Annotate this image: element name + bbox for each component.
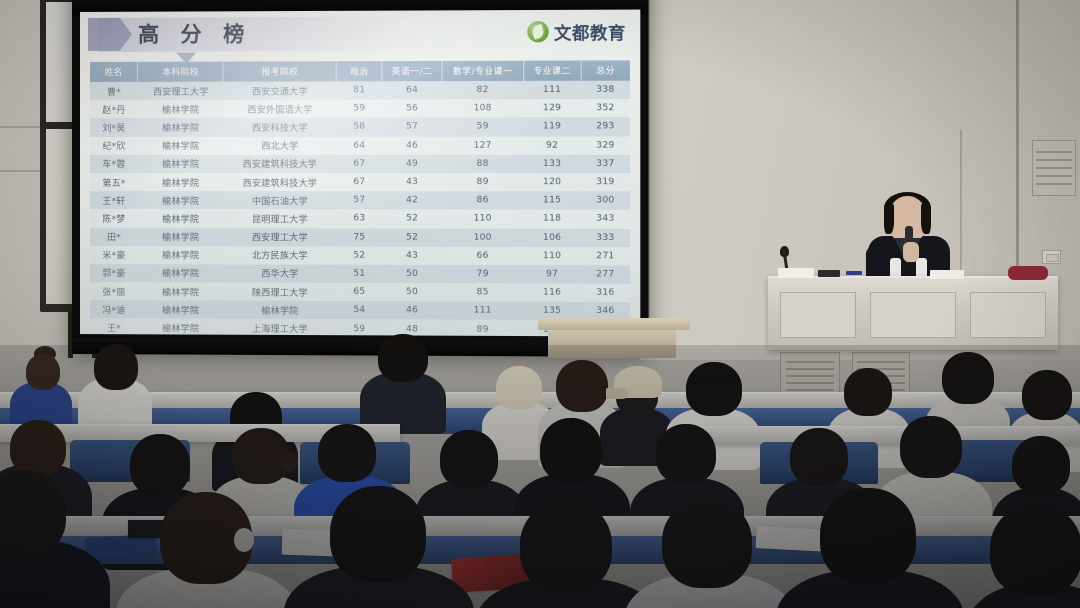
cell-politics: 58	[336, 118, 382, 136]
cell-total: 316	[581, 284, 630, 303]
remote-control	[818, 270, 840, 277]
cell-politics: 52	[336, 246, 382, 264]
table-row: 王*轩榆林学院中国石油大学574286115300	[90, 191, 630, 210]
person-head	[94, 344, 138, 390]
person-head	[130, 434, 190, 496]
cell-total: 337	[581, 155, 630, 173]
cell-math: 85	[442, 283, 524, 302]
cell-politics: 81	[336, 81, 382, 99]
col-major2: 专业课二	[523, 60, 580, 80]
cell-major2: 92	[523, 136, 580, 154]
wall-seam	[1016, 0, 1019, 300]
red-cloth	[1008, 266, 1048, 280]
cell-total: 277	[581, 265, 630, 284]
cell-politics: 54	[336, 301, 382, 320]
cell-politics: 67	[336, 173, 382, 191]
vent-panel	[1032, 140, 1076, 196]
cell-math: 100	[442, 228, 524, 247]
cell-math: 79	[442, 265, 524, 284]
col-english: 英语一/二	[382, 61, 442, 81]
cell-name: 冯*迪	[90, 300, 138, 318]
cell-target: 北方民族大学	[224, 246, 337, 265]
person-head	[990, 504, 1080, 596]
table-row: 曹*西安理工大学西安交通大学816482111338	[90, 81, 630, 101]
cell-english: 46	[382, 136, 442, 154]
cell-name: 车*蓉	[90, 155, 138, 173]
person-head	[556, 360, 608, 412]
person-head	[520, 500, 612, 592]
cell-english: 43	[382, 246, 442, 264]
lectern-panel	[780, 292, 856, 338]
person-head	[942, 352, 994, 404]
person-head	[656, 424, 716, 484]
cell-major2: 133	[523, 155, 580, 173]
cell-school: 榆林学院	[138, 136, 224, 154]
lecture-hall-scene: 高 分 榜 文都教育 姓名 本科院校 报考院校	[0, 0, 1080, 608]
cell-school: 榆林学院	[138, 209, 224, 227]
cell-name: 第五*	[90, 173, 138, 191]
table-header-row: 姓名 本科院校 报考院校 政治 英语一/二 数学/专业课一 专业课二 总分	[90, 60, 630, 82]
person-head	[10, 420, 66, 476]
cell-total: 271	[581, 247, 630, 266]
cell-major2: 116	[523, 283, 580, 302]
cell-major2: 106	[523, 228, 580, 247]
wall-ledge-support	[548, 330, 676, 358]
cell-math: 89	[442, 173, 524, 191]
cell-target: 西安建筑科技大学	[224, 155, 337, 173]
cell-english: 52	[382, 210, 442, 228]
cell-name: 陈*梦	[90, 209, 138, 227]
lectern-panel	[970, 292, 1046, 338]
cell-target: 榆林学院	[224, 301, 337, 320]
brand-name: 文都教育	[554, 19, 626, 45]
cell-school: 榆林学院	[138, 100, 224, 118]
person-head	[318, 424, 376, 482]
col-target: 报考院校	[224, 61, 337, 81]
cell-english: 52	[382, 228, 442, 246]
cell-total: 333	[581, 228, 630, 247]
col-name: 姓名	[90, 62, 138, 82]
projector-screen: 高 分 榜 文都教育 姓名 本科院校 报考院校	[72, 0, 649, 357]
cell-total: 293	[581, 118, 630, 137]
table-row: 米*豪榆林学院北方民族大学524366110271	[90, 246, 630, 266]
person-head	[378, 334, 428, 382]
cell-target: 西华大学	[224, 264, 337, 283]
cell-major2: 119	[523, 118, 580, 136]
cell-math: 111	[442, 302, 524, 321]
cell-major2: 120	[523, 173, 580, 191]
cell-target: 西安建筑科技大学	[224, 173, 337, 191]
presenter-hair-side	[884, 204, 894, 234]
cell-total: 300	[581, 191, 630, 209]
person-head	[1012, 436, 1070, 494]
leaf-icon	[527, 21, 549, 42]
cell-english: 57	[382, 118, 442, 136]
cell-major2: 115	[523, 191, 580, 209]
paper-sheet	[930, 270, 964, 279]
cell-total: 338	[581, 81, 630, 100]
person-head	[790, 428, 848, 486]
cell-school: 榆林学院	[138, 173, 224, 191]
cell-school: 榆林学院	[138, 118, 224, 136]
cell-school: 榆林学院	[138, 228, 224, 246]
notebook[interactable]	[85, 534, 156, 560]
cell-major2: 111	[523, 81, 580, 100]
cell-school: 榆林学院	[138, 246, 224, 264]
cell-math: 127	[442, 136, 524, 154]
person-head	[440, 430, 498, 488]
cell-math: 110	[442, 210, 524, 229]
col-school: 本科院校	[138, 62, 224, 82]
pen	[846, 271, 862, 275]
lectern-panel	[870, 292, 956, 338]
table-row: 第五*榆林学院西安建筑科技大学674389120319	[90, 173, 630, 192]
table-row: 田*榆林学院西安理工大学7552100106333	[90, 228, 630, 247]
presentation-slide: 高 分 榜 文都教育 姓名 本科院校 报考院校	[80, 10, 640, 337]
lectern	[768, 276, 1058, 350]
cell-major2: 118	[523, 210, 580, 229]
cell-total: 319	[581, 173, 630, 191]
cell-politics: 59	[336, 100, 382, 118]
cell-politics: 57	[336, 191, 382, 209]
cell-target: 中国石油大学	[224, 191, 337, 209]
light-switch[interactable]	[1042, 250, 1061, 264]
cell-target: 西安科技大学	[224, 118, 337, 136]
col-math: 数学/专业课一	[442, 61, 524, 81]
cell-total: 352	[581, 99, 630, 118]
person-head	[496, 366, 542, 410]
cell-name: 米*豪	[90, 246, 138, 264]
cell-english: 50	[382, 265, 442, 284]
cell-politics: 75	[336, 228, 382, 246]
wall-ledge	[538, 318, 690, 330]
cell-english: 46	[382, 301, 442, 320]
cell-english: 43	[382, 173, 442, 191]
person-head	[662, 498, 752, 588]
cell-school: 榆林学院	[138, 319, 224, 337]
person-head	[686, 362, 742, 416]
table-row: 纪*欣榆林学院西北大学644612792329	[90, 136, 630, 155]
cell-math: 89	[442, 320, 524, 337]
person-head	[844, 368, 892, 416]
cap-brim	[606, 388, 628, 399]
cell-school: 榆林学院	[138, 264, 224, 282]
cell-politics: 67	[336, 155, 382, 173]
cell-total: 343	[581, 210, 630, 229]
cell-math: 82	[442, 81, 524, 100]
cell-target: 陕西理工大学	[224, 283, 337, 302]
cell-name: 郭*豪	[90, 264, 138, 282]
cell-math: 59	[442, 118, 524, 136]
cell-english: 48	[382, 320, 442, 337]
table-row: 刘*昊榆林学院西安科技大学585759119293	[90, 118, 630, 137]
cell-school: 榆林学院	[138, 191, 224, 209]
cell-politics: 59	[336, 320, 382, 337]
table-row: 郭*豪榆林学院西华大学51507997277	[90, 264, 630, 284]
table-row: 赵*丹榆林学院西安外国语大学5956108129352	[90, 99, 630, 118]
cell-politics: 63	[336, 210, 382, 228]
cell-major2: 129	[523, 99, 580, 118]
person-head	[330, 486, 426, 582]
person-head	[820, 488, 916, 584]
cell-math: 66	[442, 246, 524, 265]
cell-math: 86	[442, 191, 524, 209]
cell-major2: 110	[523, 247, 580, 266]
table-row: 张*丽榆林学院陕西理工大学655085116316	[90, 282, 630, 302]
cell-target: 上海理工大学	[224, 319, 337, 337]
col-politics: 政治	[336, 61, 382, 81]
presenter-hair-side	[921, 204, 931, 234]
cell-target: 西安理工大学	[224, 228, 337, 246]
brand-logo: 文都教育	[527, 19, 626, 45]
cell-english: 56	[382, 99, 442, 117]
cell-target: 西安外国语大学	[224, 100, 337, 118]
cell-name: 王*轩	[90, 191, 138, 209]
cell-major2: 97	[523, 265, 580, 284]
wall-seam	[0, 170, 44, 172]
person-head	[1022, 370, 1072, 420]
paper-stack	[778, 268, 814, 278]
person-hair-tie	[234, 528, 254, 552]
cell-school: 榆林学院	[138, 282, 224, 301]
cell-target: 昆明理工大学	[224, 209, 337, 227]
person-hair-bun	[280, 452, 298, 472]
cell-name: 纪*欣	[90, 137, 138, 155]
cell-politics: 65	[336, 283, 382, 301]
cell-name: 王*	[90, 319, 138, 337]
cell-target: 西北大学	[224, 136, 337, 154]
cell-name: 刘*昊	[90, 118, 138, 136]
cell-target: 西安交通大学	[224, 81, 337, 100]
presenter-hand	[903, 242, 919, 262]
cell-name: 曹*	[90, 82, 138, 100]
table-row: 车*蓉榆林学院西安建筑科技大学674988133337	[90, 155, 630, 173]
cell-english: 42	[382, 191, 442, 209]
cell-total: 329	[581, 136, 630, 154]
cell-politics: 64	[336, 136, 382, 154]
cell-math: 88	[442, 155, 524, 173]
cell-name: 田*	[90, 228, 138, 246]
cell-english: 64	[382, 81, 442, 99]
cell-school: 榆林学院	[138, 300, 224, 319]
person-head	[540, 418, 602, 482]
cell-english: 50	[382, 283, 442, 302]
person-head	[26, 354, 60, 390]
col-total: 总分	[581, 60, 630, 80]
table-row: 陈*梦榆林学院昆明理工大学6352110118343	[90, 209, 630, 228]
cell-math: 108	[442, 99, 524, 118]
cell-school: 榆林学院	[138, 155, 224, 173]
cell-english: 49	[382, 155, 442, 173]
slide-header: 高 分 榜 文都教育	[80, 10, 640, 64]
slide-title: 高 分 榜	[138, 19, 251, 50]
cell-name: 赵*丹	[90, 100, 138, 118]
cell-politics: 51	[336, 265, 382, 283]
score-table: 姓名 本科院校 报考院校 政治 英语一/二 数学/专业课一 专业课二 总分 曹*…	[90, 60, 630, 336]
cell-school: 西安理工大学	[138, 82, 224, 100]
person-head	[900, 416, 962, 478]
cell-name: 张*丽	[90, 282, 138, 300]
